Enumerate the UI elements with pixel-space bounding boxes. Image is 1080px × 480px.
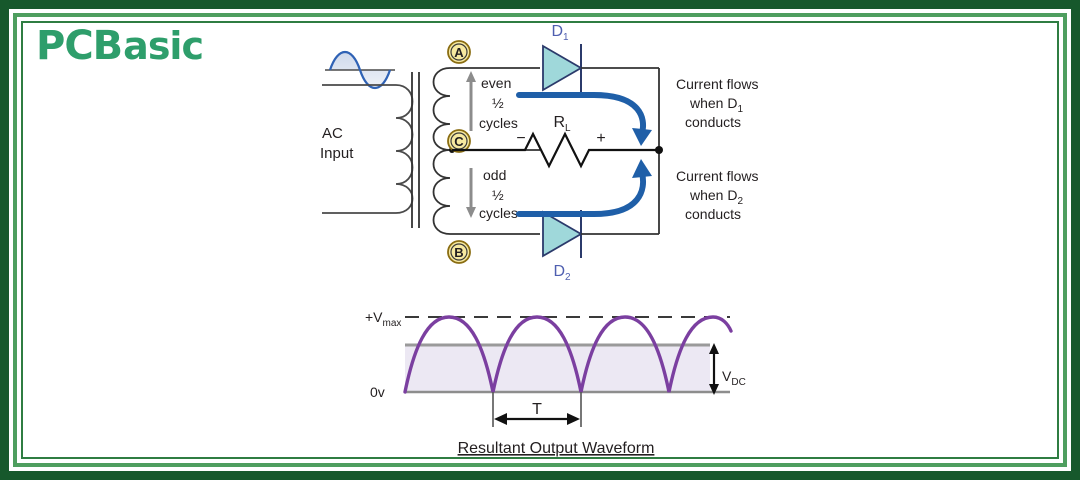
annotation-d1-line2: when D1: [689, 95, 743, 115]
current-arrow-d1: [519, 95, 652, 146]
terminal-label-a: A: [454, 45, 464, 60]
poster-canvas: PCB asic AC Input: [0, 0, 1080, 480]
diode-d1-label: D1: [551, 23, 569, 43]
vmax-axis-label: +Vmax: [365, 309, 401, 329]
ac-input-label-line2: Input: [320, 145, 354, 162]
polarity-plus: +: [596, 130, 605, 147]
annotation-d2-line2: when D2: [689, 187, 743, 207]
current-arrow-d2: [519, 159, 652, 214]
output-node-junction-dot: [655, 146, 663, 154]
load-resistor-label: RL: [553, 114, 571, 134]
even-half-cycles-line2: ½: [492, 95, 504, 111]
ac-input-label-line1: AC: [322, 125, 343, 142]
annotation-d2-line1: Current flows: [676, 168, 758, 184]
load-resistor-rl[interactable]: [452, 134, 659, 166]
diode-d1[interactable]: [543, 44, 659, 92]
zero-volt-axis-label: 0v: [370, 384, 385, 400]
odd-half-cycles-arrow: [466, 168, 476, 218]
terminal-marker-a[interactable]: A: [448, 41, 470, 63]
even-half-cycles-line3: cycles: [479, 115, 518, 131]
terminal-label-b: B: [454, 245, 463, 260]
vdc-measure-label: VDC: [722, 368, 746, 388]
waveform-caption: Resultant Output Waveform: [458, 440, 655, 457]
annotation-d2-conducts: Current flows when D2 conducts: [676, 168, 758, 222]
period-label: T: [532, 401, 542, 418]
polarity-minus: −: [516, 130, 525, 147]
terminal-marker-b[interactable]: B: [448, 241, 470, 263]
annotation-d1-line3: conducts: [685, 114, 741, 130]
diode-d2[interactable]: [543, 210, 659, 258]
rectifier-illustration: AC Input A C: [0, 0, 1080, 480]
terminal-marker-c[interactable]: C: [448, 130, 470, 152]
diode-d2-label: D2: [553, 263, 571, 283]
even-half-cycles-arrow: [466, 71, 476, 131]
terminal-label-c: C: [454, 134, 464, 149]
transformer-core: [412, 72, 419, 228]
annotation-d1-conducts: Current flows when D1 conducts: [676, 76, 758, 130]
annotation-d1-line1: Current flows: [676, 76, 758, 92]
odd-half-cycles-line3: cycles: [479, 205, 518, 221]
even-half-cycles-line1: even: [481, 75, 511, 91]
vdc-measure-arrow: [709, 343, 719, 395]
output-waveform-plot: +Vmax 0v VDC T Resultant Output Waveform: [365, 309, 746, 457]
ac-input-sine-symbol: [325, 52, 395, 88]
annotation-d2-line3: conducts: [685, 206, 741, 222]
odd-half-cycles-line1: odd: [483, 167, 506, 183]
odd-half-cycles-line2: ½: [492, 187, 504, 203]
